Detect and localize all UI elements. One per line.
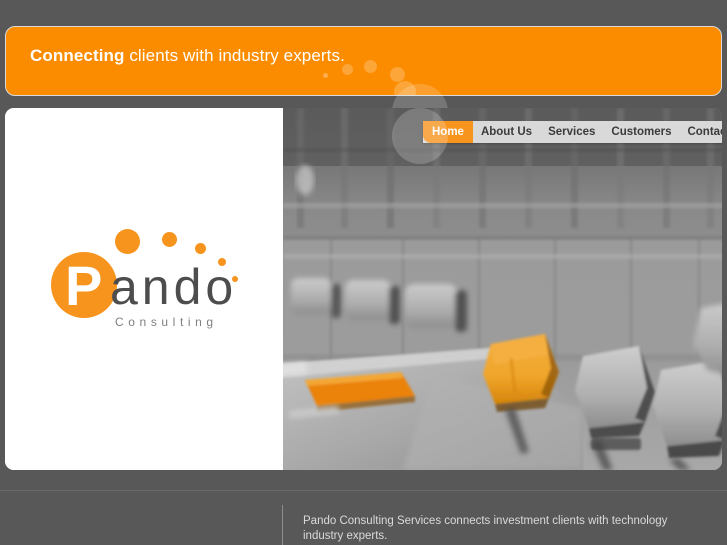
- main-navigation[interactable]: Home About Us Services Customers Contact…: [423, 121, 722, 143]
- logo-wordmark: ando: [110, 262, 237, 312]
- nav-item-about-us[interactable]: About Us: [473, 121, 540, 143]
- company-logo: P ando Consulting: [43, 226, 253, 326]
- banner-headline-rest: clients with industry experts.: [125, 46, 345, 65]
- nav-item-contact-us[interactable]: Contact Us: [679, 121, 722, 143]
- promo-banner: Connecting clients with industry experts…: [5, 26, 722, 96]
- nav-item-customers[interactable]: Customers: [603, 121, 679, 143]
- bubble-decoration-icon: [390, 67, 405, 82]
- footer-description: Pando Consulting Services connects inves…: [303, 514, 703, 544]
- logo-dot-icon: [115, 229, 140, 254]
- logo-dot-icon: [195, 243, 206, 254]
- footer-divider: [282, 505, 283, 545]
- logo-panel: P ando Consulting: [5, 108, 283, 470]
- hero-image: [283, 108, 722, 470]
- nav-item-services[interactable]: Services: [540, 121, 603, 143]
- logo-dot-icon: [162, 232, 177, 247]
- footer-bar: Pando Consulting Services connects inves…: [0, 490, 727, 545]
- logo-tagline: Consulting: [115, 316, 218, 328]
- bubble-decoration-icon: [364, 60, 377, 73]
- banner-headline-strong: Connecting: [30, 46, 125, 65]
- bubble-decoration-icon: [342, 64, 353, 75]
- bubble-decoration-icon: [323, 73, 328, 78]
- nav-item-home[interactable]: Home: [423, 121, 473, 143]
- main-content-card: P ando Consulting: [5, 108, 722, 470]
- boardroom-illustration: [283, 108, 722, 470]
- banner-headline: Connecting clients with industry experts…: [30, 46, 345, 66]
- logo-mark-letter: P: [65, 258, 102, 314]
